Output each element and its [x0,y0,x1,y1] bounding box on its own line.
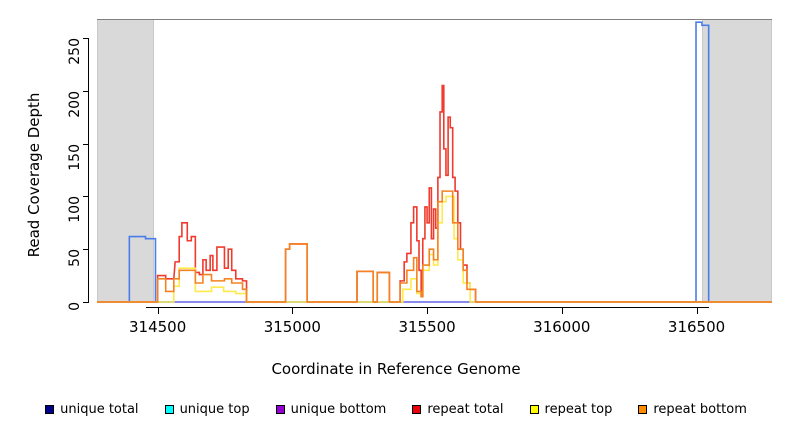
x-axis-tick [158,307,159,314]
legend-label: repeat top [545,402,613,417]
legend: unique totalunique topunique bottomrepea… [0,398,792,420]
x-axis-tick [562,307,563,314]
y-axis-line [88,38,89,302]
x-axis-tick [427,307,428,314]
y-axis-tick-label: 50 [67,249,83,289]
legend-item-unique-bottom[interactable]: unique bottom [276,402,387,417]
legend-label: repeat bottom [653,402,747,417]
x-axis-tick-label: 315500 [382,318,472,336]
legend-label: unique top [180,402,250,417]
legend-swatch-icon [276,405,285,414]
legend-label: repeat total [427,402,503,417]
plot-frame [97,19,772,303]
legend-item-repeat-bottom[interactable]: repeat bottom [638,402,747,417]
legend-swatch-icon [412,405,421,414]
y-axis-tick-label: 250 [67,38,83,78]
y-axis-tick [83,144,89,145]
legend-swatch-icon [45,405,54,414]
y-axis-tick-label: 100 [67,196,83,236]
y-axis-tick-label: 150 [67,144,83,184]
y-axis-tick [83,249,89,250]
y-axis-tick [83,302,89,303]
x-axis-tick-label: 316500 [652,318,742,336]
legend-swatch-icon [530,405,539,414]
x-axis-tick-label: 316000 [517,318,607,336]
x-axis-tick [292,307,293,314]
x-axis-tick-label: 315000 [247,318,337,336]
x-axis-title: Coordinate in Reference Genome [0,360,792,378]
plot-area [97,19,772,303]
y-axis-tick-label: 200 [67,91,83,131]
legend-swatch-icon [638,405,647,414]
legend-label: unique bottom [291,402,387,417]
legend-item-unique-top[interactable]: unique top [165,402,250,417]
legend-item-repeat-total[interactable]: repeat total [412,402,503,417]
x-axis-tick-label: 314500 [113,318,203,336]
y-axis-title: Read Coverage Depth [25,45,43,305]
legend-swatch-icon [165,405,174,414]
coverage-plot-figure: Read Coverage Depth 050100150200250 3145… [0,0,792,432]
legend-item-unique-total[interactable]: unique total [45,402,138,417]
x-axis-tick [697,307,698,314]
y-axis-tick [83,196,89,197]
y-axis-tick [83,91,89,92]
y-axis-tick-label: 0 [67,302,83,342]
legend-label: unique total [60,402,138,417]
y-axis-tick [83,38,89,39]
legend-item-repeat-top[interactable]: repeat top [530,402,613,417]
